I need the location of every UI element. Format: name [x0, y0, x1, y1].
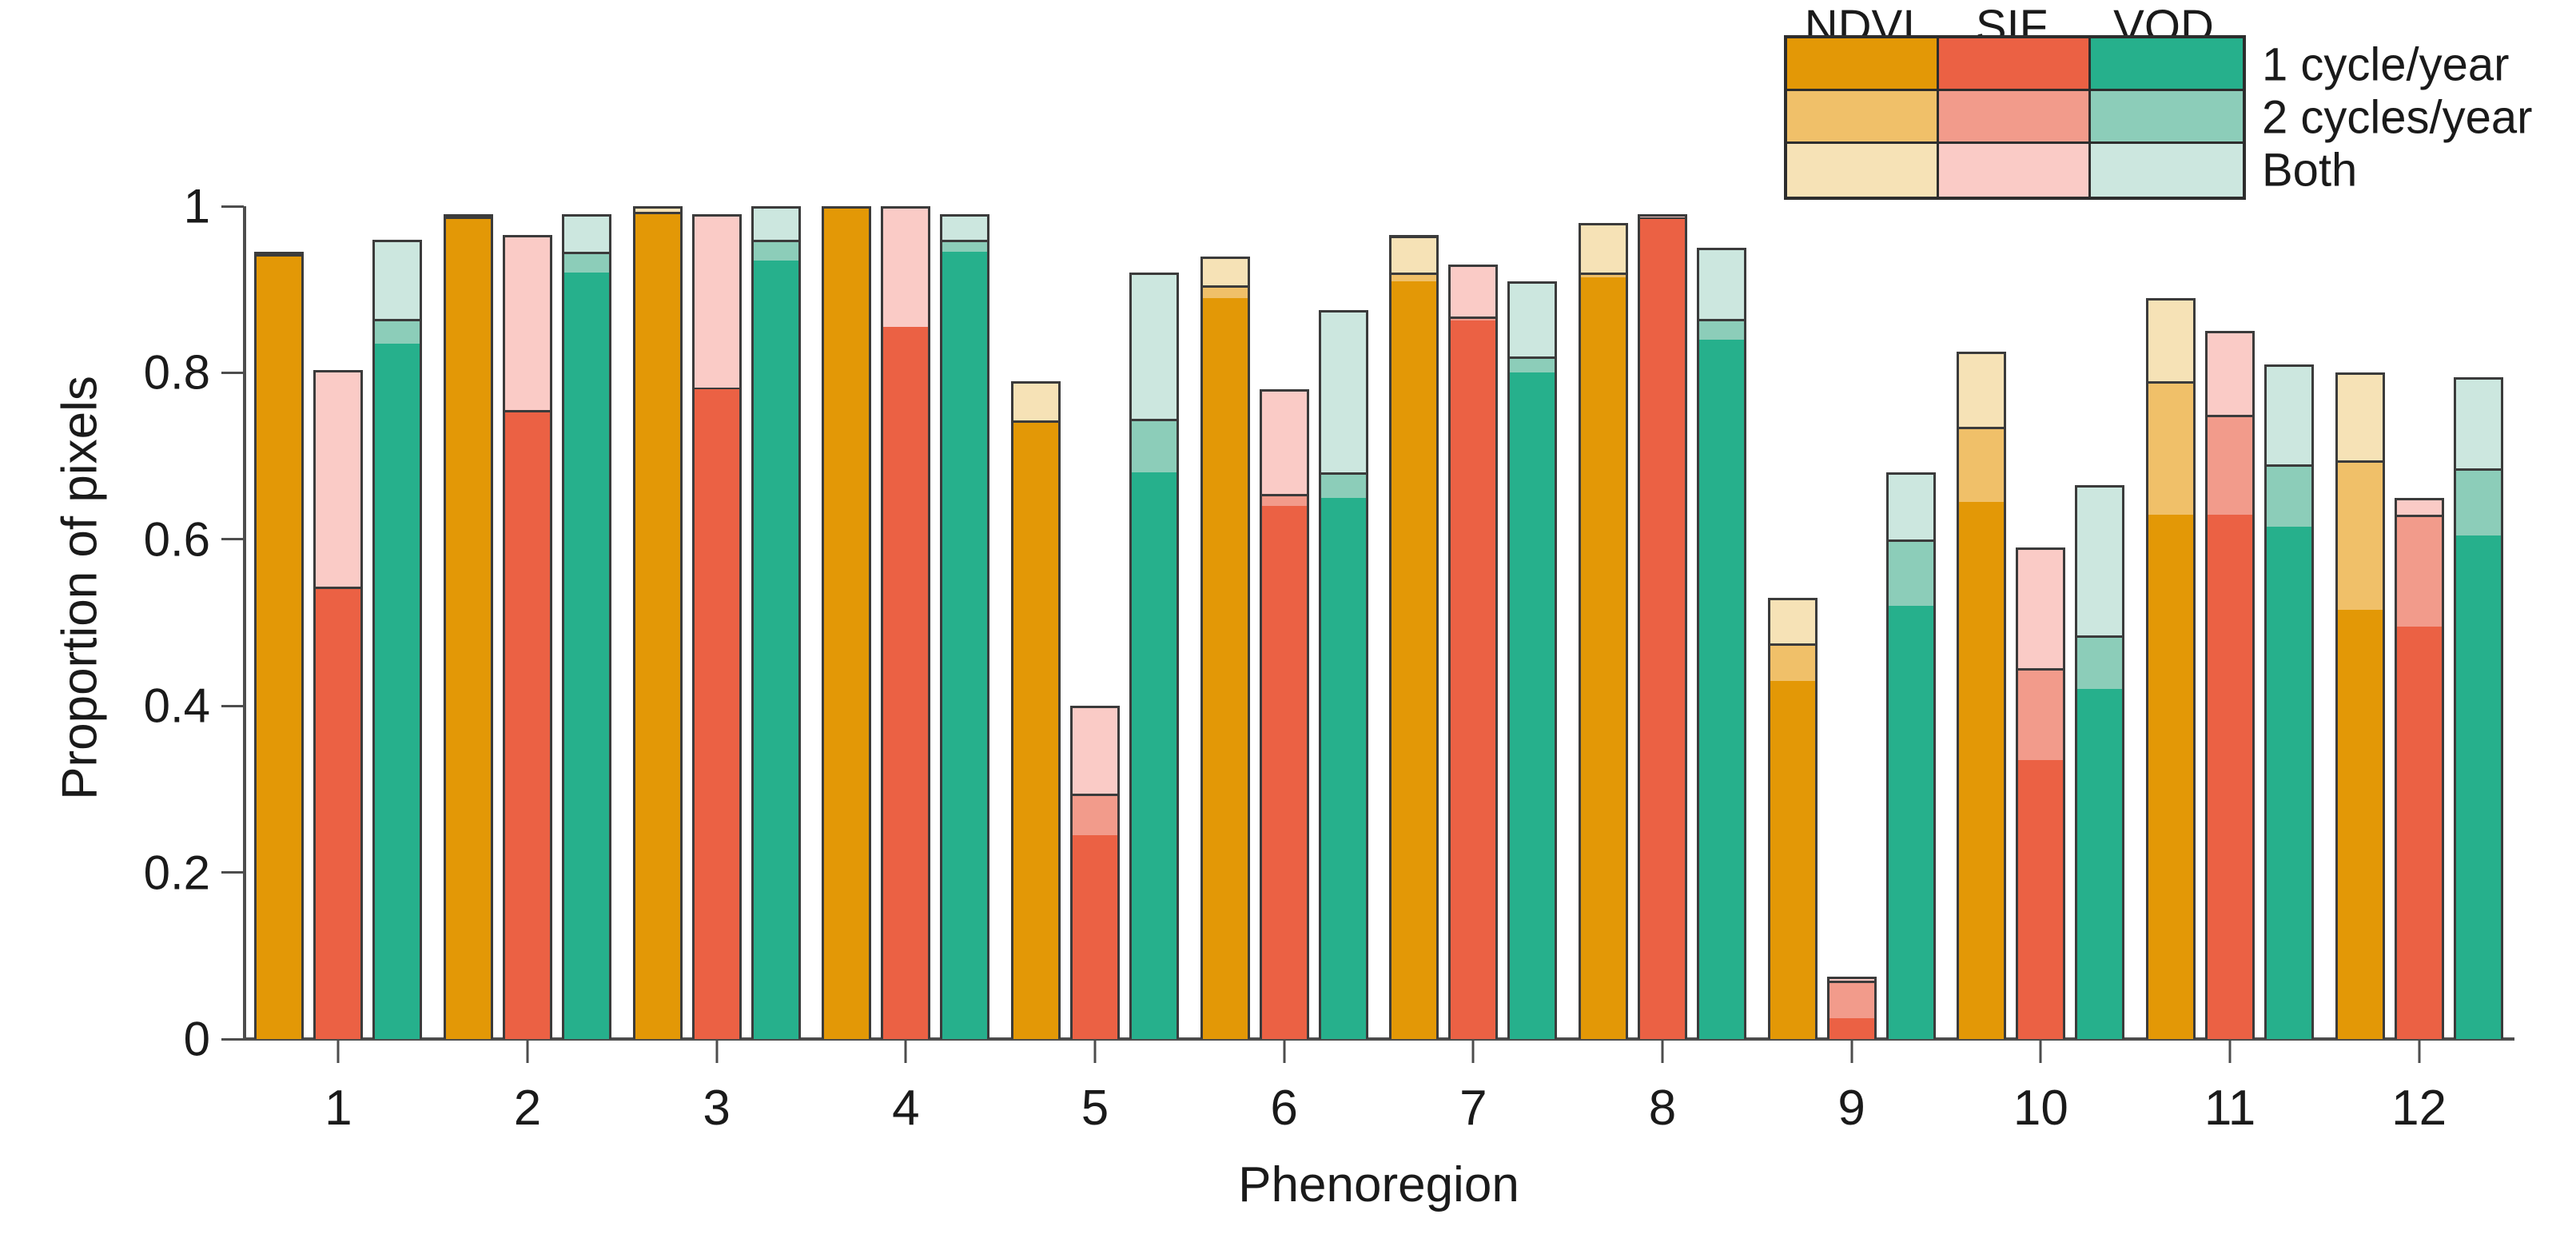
bar-segment-two-cycles: [1510, 356, 1555, 373]
bar-segment-one-cycle: [1321, 498, 1366, 1039]
bar-segment-one-cycle: [564, 273, 609, 1039]
bar-segment-two-cycles: [2456, 468, 2501, 535]
x-tick: [1094, 1039, 1097, 1063]
bar-segment-both: [2148, 298, 2193, 381]
x-tick: [1472, 1039, 1475, 1063]
y-tick: [221, 372, 244, 374]
bar-segment-one-cycle: [2397, 627, 2442, 1039]
bar-segment-two-cycles: [2018, 668, 2063, 760]
x-tick-label: 5: [1081, 1080, 1109, 1137]
bar-segment-both: [1770, 598, 1815, 643]
bar-segment-one-cycle: [1959, 502, 2004, 1039]
bar-segment-both: [1073, 706, 1117, 793]
x-tick-label: 9: [1837, 1080, 1865, 1137]
bar-segment-two-cycles: [1392, 273, 1436, 281]
legend-swatch-ndvi-r1: [1787, 38, 1939, 91]
bar-segment-one-cycle: [1640, 219, 1685, 1039]
bar-sif-phenoregion-2: [503, 235, 552, 1039]
bar-segment-both: [446, 214, 491, 216]
x-tick: [715, 1039, 718, 1063]
bar-sif-phenoregion-12: [2395, 498, 2444, 1039]
bar-vod-phenoregion-3: [751, 206, 801, 1039]
x-tick-label: 12: [2391, 1080, 2447, 1137]
bar-vod-phenoregion-12: [2454, 377, 2503, 1039]
x-tick-label: 11: [2204, 1080, 2255, 1137]
bar-segment-one-cycle: [1392, 281, 1436, 1039]
bar-segment-both: [1829, 977, 1874, 981]
bar-vod-phenoregion-10: [2075, 485, 2124, 1039]
bar-ndvi-phenoregion-10: [1957, 352, 2006, 1039]
bar-segment-both: [1889, 472, 1933, 539]
legend-swatch-sif-r3: [1939, 144, 2091, 197]
bar-segment-two-cycles: [754, 240, 798, 261]
bar-segment-both: [505, 235, 550, 410]
bar-segment-one-cycle: [695, 389, 739, 1039]
bar-segment-one-cycle: [1203, 298, 1248, 1039]
bar-ndvi-phenoregion-7: [1389, 235, 1439, 1039]
x-tick: [905, 1039, 907, 1063]
y-tick: [221, 1038, 244, 1041]
bar-vod-phenoregion-5: [1129, 273, 1179, 1039]
bar-sif-phenoregion-5: [1070, 706, 1120, 1039]
bar-segment-both: [1203, 257, 1248, 285]
x-tick: [1283, 1039, 1285, 1063]
bar-ndvi-phenoregion-8: [1579, 223, 1628, 1039]
bar-segment-both: [1321, 310, 1366, 472]
bar-segment-one-cycle: [446, 219, 491, 1039]
legend-swatch-sif-r1: [1939, 38, 2091, 91]
bar-ndvi-phenoregion-2: [444, 214, 493, 1039]
legend-swatch-sif-r2: [1939, 91, 2091, 144]
legend-swatch-vod-r1: [2091, 38, 2243, 91]
bar-sif-phenoregion-1: [313, 370, 363, 1039]
chart-figure: Proportion of pixels 00.20.40.60.81 1234…: [0, 0, 2576, 1258]
bar-segment-one-cycle: [375, 344, 420, 1039]
bar-segment-two-cycles: [1203, 285, 1248, 298]
legend-row-label-1: 1 cycle/year: [2262, 38, 2509, 92]
x-tick-label: 10: [2013, 1080, 2068, 1137]
bar-segment-one-cycle: [824, 206, 869, 1039]
bar-segment-two-cycles: [316, 587, 360, 589]
bar-segment-one-cycle: [2208, 515, 2252, 1039]
bar-sif-phenoregion-9: [1827, 977, 1877, 1039]
y-tick-label: 1: [184, 179, 210, 234]
bar-vod-phenoregion-1: [372, 240, 422, 1039]
bar-ndvi-phenoregion-12: [2335, 372, 2385, 1039]
x-tick-label: 7: [1459, 1080, 1487, 1137]
y-tick: [221, 205, 244, 208]
bar-segment-both: [1132, 273, 1177, 418]
x-tick: [2040, 1039, 2042, 1063]
bar-segment-both: [2018, 547, 2063, 668]
bar-segment-one-cycle: [1262, 506, 1307, 1039]
y-tick-label: 0.8: [144, 345, 210, 400]
bar-segment-one-cycle: [505, 412, 550, 1039]
bar-segment-both: [1013, 381, 1058, 420]
y-tick: [221, 871, 244, 874]
x-tick-label: 4: [892, 1080, 919, 1137]
bar-segment-both: [942, 214, 987, 239]
bar-segment-two-cycles: [1451, 316, 1495, 320]
bar-segment-two-cycles: [942, 240, 987, 253]
bar-segment-one-cycle: [2018, 760, 2063, 1039]
bar-segment-one-cycle: [316, 589, 360, 1039]
bar-segment-two-cycles: [1321, 472, 1366, 497]
bar-segment-one-cycle: [1132, 472, 1177, 1039]
bar-segment-both: [2338, 372, 2383, 460]
bar-segment-one-cycle: [1770, 681, 1815, 1039]
bar-segment-both: [1959, 352, 2004, 427]
bar-ndvi-phenoregion-4: [822, 206, 871, 1039]
bar-segment-one-cycle: [1451, 320, 1495, 1039]
bar-vod-phenoregion-9: [1886, 472, 1936, 1039]
bar-segment-two-cycles: [1699, 319, 1744, 340]
bar-segment-one-cycle: [2267, 527, 2311, 1039]
x-tick-label: 6: [1270, 1080, 1297, 1137]
bar-segment-one-cycle: [1829, 1018, 1874, 1039]
bar-segment-both: [2267, 364, 2311, 464]
bar-segment-both: [1640, 214, 1685, 217]
x-tick: [1850, 1039, 1853, 1063]
bar-ndvi-phenoregion-1: [254, 252, 304, 1039]
bar-segment-two-cycles: [1132, 419, 1177, 473]
bar-ndvi-phenoregion-11: [2146, 298, 2196, 1039]
bar-segment-both: [2397, 498, 2442, 515]
bar-segment-both: [1699, 248, 1744, 319]
y-tick-label: 0.6: [144, 512, 210, 567]
bar-sif-phenoregion-6: [1260, 389, 1309, 1039]
bar-segment-two-cycles: [1770, 643, 1815, 681]
bar-segment-two-cycles: [446, 217, 491, 219]
bar-segment-two-cycles: [564, 252, 609, 273]
bar-segment-both: [695, 214, 739, 388]
bar-segment-both: [316, 370, 360, 587]
x-tick-label: 3: [703, 1080, 730, 1137]
bar-vod-phenoregion-8: [1697, 248, 1746, 1039]
bar-sif-phenoregion-7: [1448, 265, 1498, 1039]
plot-area: 00.20.40.60.81 123456789101112 Phenoregi…: [244, 206, 2514, 1039]
bar-segment-two-cycles: [375, 319, 420, 344]
y-tick: [221, 705, 244, 707]
x-tick: [2418, 1039, 2420, 1063]
bar-segment-both: [754, 206, 798, 240]
bar-segment-one-cycle: [883, 327, 928, 1039]
bar-ndvi-phenoregion-5: [1011, 381, 1061, 1039]
y-tick-label: 0.2: [144, 845, 210, 900]
bar-segment-two-cycles: [2148, 381, 2193, 515]
bar-segment-one-cycle: [1013, 423, 1058, 1039]
y-tick-label: 0.4: [144, 679, 210, 734]
bar-segment-both: [2208, 331, 2252, 414]
legend-swatch-ndvi-r2: [1787, 91, 1939, 144]
bar-segment-two-cycles: [1829, 981, 1874, 1018]
bar-segment-two-cycles: [1262, 494, 1307, 507]
bar-segment-one-cycle: [257, 257, 301, 1039]
legend-swatch-vod-r3: [2091, 144, 2243, 197]
bar-sif-phenoregion-8: [1638, 214, 1687, 1039]
x-tick: [527, 1039, 529, 1063]
bar-sif-phenoregion-4: [881, 206, 930, 1039]
legend-swatch-grid: [1784, 35, 2246, 200]
bar-vod-phenoregion-7: [1507, 281, 1557, 1039]
bar-segment-one-cycle: [1073, 835, 1117, 1039]
y-tick: [221, 538, 244, 540]
x-tick-label: 8: [1649, 1080, 1676, 1137]
bar-segment-two-cycles: [1889, 539, 1933, 606]
bar-ndvi-phenoregion-3: [633, 206, 683, 1039]
legend-swatch-vod-r2: [2091, 91, 2243, 144]
bar-segment-one-cycle: [1889, 606, 1933, 1039]
bar-ndvi-phenoregion-6: [1200, 257, 1250, 1039]
bar-segment-one-cycle: [635, 214, 680, 1039]
bar-vod-phenoregion-4: [940, 214, 989, 1039]
bar-segment-one-cycle: [2456, 535, 2501, 1039]
bar-segment-one-cycle: [754, 261, 798, 1039]
bar-ndvi-phenoregion-9: [1768, 598, 1818, 1039]
bar-segment-both: [375, 240, 420, 319]
legend-row-label-2: 2 cycles/year: [2262, 91, 2532, 145]
bar-segment-two-cycles: [2267, 464, 2311, 527]
x-tick-label: 2: [514, 1080, 541, 1137]
bar-segment-two-cycles: [505, 410, 550, 412]
bar-vod-phenoregion-6: [1319, 310, 1368, 1039]
y-tick-label: 0: [184, 1012, 210, 1067]
bar-segment-one-cycle: [1699, 340, 1744, 1039]
bar-segment-both: [1451, 265, 1495, 316]
bar-segment-both: [635, 206, 680, 212]
bar-segment-both: [2077, 485, 2122, 635]
bar-segment-both: [883, 206, 928, 327]
bar-segment-both: [1510, 281, 1555, 356]
bar-segment-one-cycle: [2077, 689, 2122, 1039]
bar-segment-both: [1392, 236, 1436, 273]
x-tick-label: 1: [324, 1080, 352, 1137]
bar-segment-two-cycles: [2338, 460, 2383, 611]
bar-vod-phenoregion-2: [562, 214, 611, 1039]
legend-row-label-3: Both: [2262, 144, 2357, 197]
bar-segment-both: [1581, 223, 1626, 273]
bar-segment-two-cycles: [1959, 427, 2004, 502]
x-tick: [2229, 1039, 2232, 1063]
bar-segment-both: [564, 214, 609, 252]
bar-sif-phenoregion-10: [2016, 547, 2065, 1039]
bar-segment-two-cycles: [1581, 273, 1626, 277]
bar-segment-two-cycles: [2397, 515, 2442, 627]
bar-segment-both: [1262, 389, 1307, 493]
bar-segment-one-cycle: [2148, 515, 2193, 1039]
y-axis-label: Proportion of pixels: [52, 269, 109, 908]
y-axis-line: [243, 206, 246, 1039]
bar-sif-phenoregion-11: [2205, 331, 2255, 1039]
bar-segment-one-cycle: [1510, 372, 1555, 1039]
bar-segment-one-cycle: [2338, 610, 2383, 1039]
bar-segment-two-cycles: [635, 212, 680, 214]
x-axis-label: Phenoregion: [244, 1156, 2514, 1213]
bar-sif-phenoregion-3: [692, 214, 742, 1039]
bar-segment-two-cycles: [1073, 794, 1117, 835]
bar-segment-two-cycles: [2077, 635, 2122, 690]
bar-segment-two-cycles: [1013, 420, 1058, 423]
bar-vod-phenoregion-11: [2264, 364, 2314, 1039]
bar-segment-two-cycles: [2208, 415, 2252, 515]
bar-segment-one-cycle: [1581, 277, 1626, 1039]
bar-segment-both: [2456, 377, 2501, 469]
x-tick: [337, 1039, 340, 1063]
legend-swatch-ndvi-r3: [1787, 144, 1939, 197]
bar-segment-both: [257, 252, 301, 254]
bar-segment-one-cycle: [942, 252, 987, 1039]
x-tick: [1662, 1039, 1664, 1063]
